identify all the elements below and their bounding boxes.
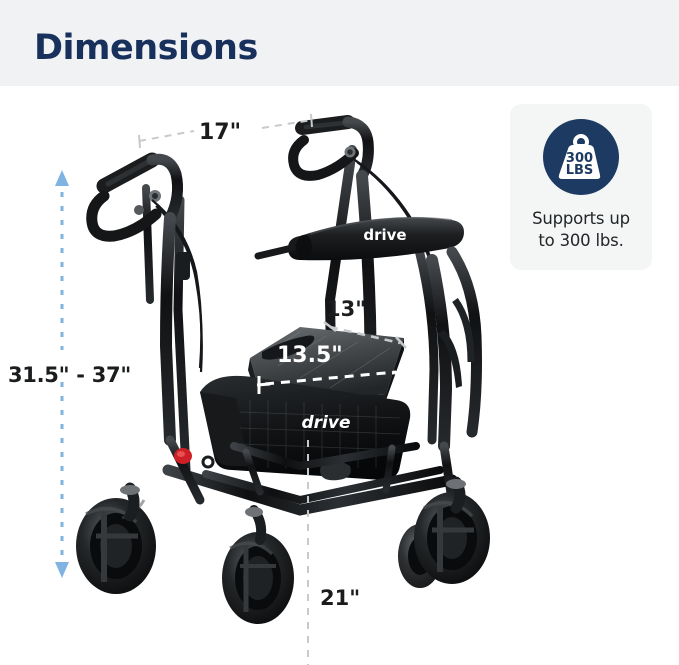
- measurement-label-seat-depth: 13": [326, 297, 366, 321]
- weight-capacity-card: 300 LBS Supports up to 300 lbs.: [510, 104, 652, 270]
- caption-line-2: to 300 lbs.: [532, 230, 630, 252]
- weight-capacity-caption: Supports up to 300 lbs.: [532, 208, 630, 252]
- measurement-label-handle-width: 17": [199, 120, 241, 145]
- weight-icon: 300 LBS: [553, 131, 609, 183]
- rear-wheel-center: [222, 507, 294, 624]
- product-illustration: drive: [0, 0, 679, 665]
- front-wheel-right: [414, 479, 490, 584]
- weight-badge-circle: 300 LBS: [543, 119, 619, 195]
- infographic-canvas: Dimensions: [0, 0, 679, 665]
- brand-logo-bag: drive: [302, 413, 351, 433]
- brand-logo-backrest: drive: [363, 226, 406, 244]
- backrest-pad: drive: [258, 217, 464, 260]
- caption-line-1: Supports up: [532, 208, 630, 230]
- measurement-label-base-width: 21": [320, 586, 360, 610]
- measurement-label-handle-height: 31.5" - 37": [8, 363, 131, 387]
- measurement-label-seat-width: 13.5": [277, 343, 343, 368]
- front-wheel-left: [76, 485, 156, 594]
- right-handle-grip: [293, 122, 368, 176]
- weight-badge-unit: LBS: [566, 163, 594, 178]
